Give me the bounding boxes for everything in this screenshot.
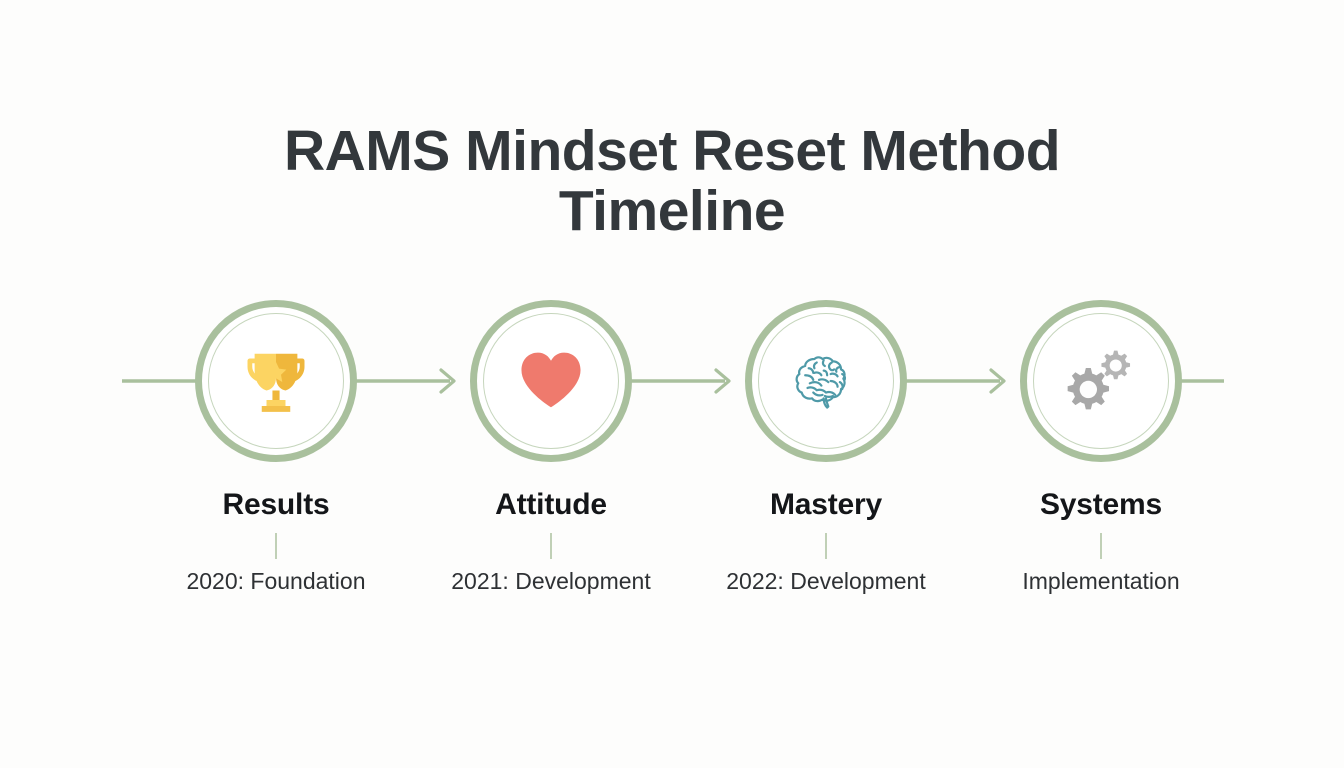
node-circle-systems bbox=[1020, 300, 1182, 462]
brain-icon bbox=[745, 300, 907, 462]
node-tick bbox=[550, 533, 552, 559]
node-tick bbox=[825, 533, 827, 559]
trophy-icon bbox=[195, 300, 357, 462]
slide-canvas: RAMS Mindset Reset Method Timeline bbox=[0, 0, 1344, 768]
timeline-node-attitude[interactable]: Attitude 2021: Development bbox=[431, 300, 671, 595]
node-date: 2020: Foundation bbox=[156, 568, 396, 595]
page-title: RAMS Mindset Reset Method Timeline bbox=[0, 122, 1344, 242]
timeline-node-results[interactable]: Results 2020: Foundation bbox=[156, 300, 396, 595]
timeline-node-mastery[interactable]: Mastery 2022: Development bbox=[706, 300, 946, 595]
node-label: Results bbox=[156, 488, 396, 522]
timeline-node-systems[interactable]: Systems Implementation bbox=[981, 300, 1221, 595]
timeline: Results 2020: Foundation Attitude 2021: … bbox=[0, 300, 1344, 630]
node-tick bbox=[275, 533, 277, 559]
node-date: 2021: Development bbox=[431, 568, 671, 595]
node-label: Systems bbox=[981, 488, 1221, 522]
node-circle-attitude bbox=[470, 300, 632, 462]
node-tick bbox=[1100, 533, 1102, 559]
gears-icon bbox=[1020, 300, 1182, 462]
node-circle-mastery bbox=[745, 300, 907, 462]
heart-icon bbox=[470, 300, 632, 462]
node-date: Implementation bbox=[981, 568, 1221, 595]
node-label: Mastery bbox=[706, 488, 946, 522]
node-date: 2022: Development bbox=[706, 568, 946, 595]
node-circle-results bbox=[195, 300, 357, 462]
node-label: Attitude bbox=[431, 488, 671, 522]
